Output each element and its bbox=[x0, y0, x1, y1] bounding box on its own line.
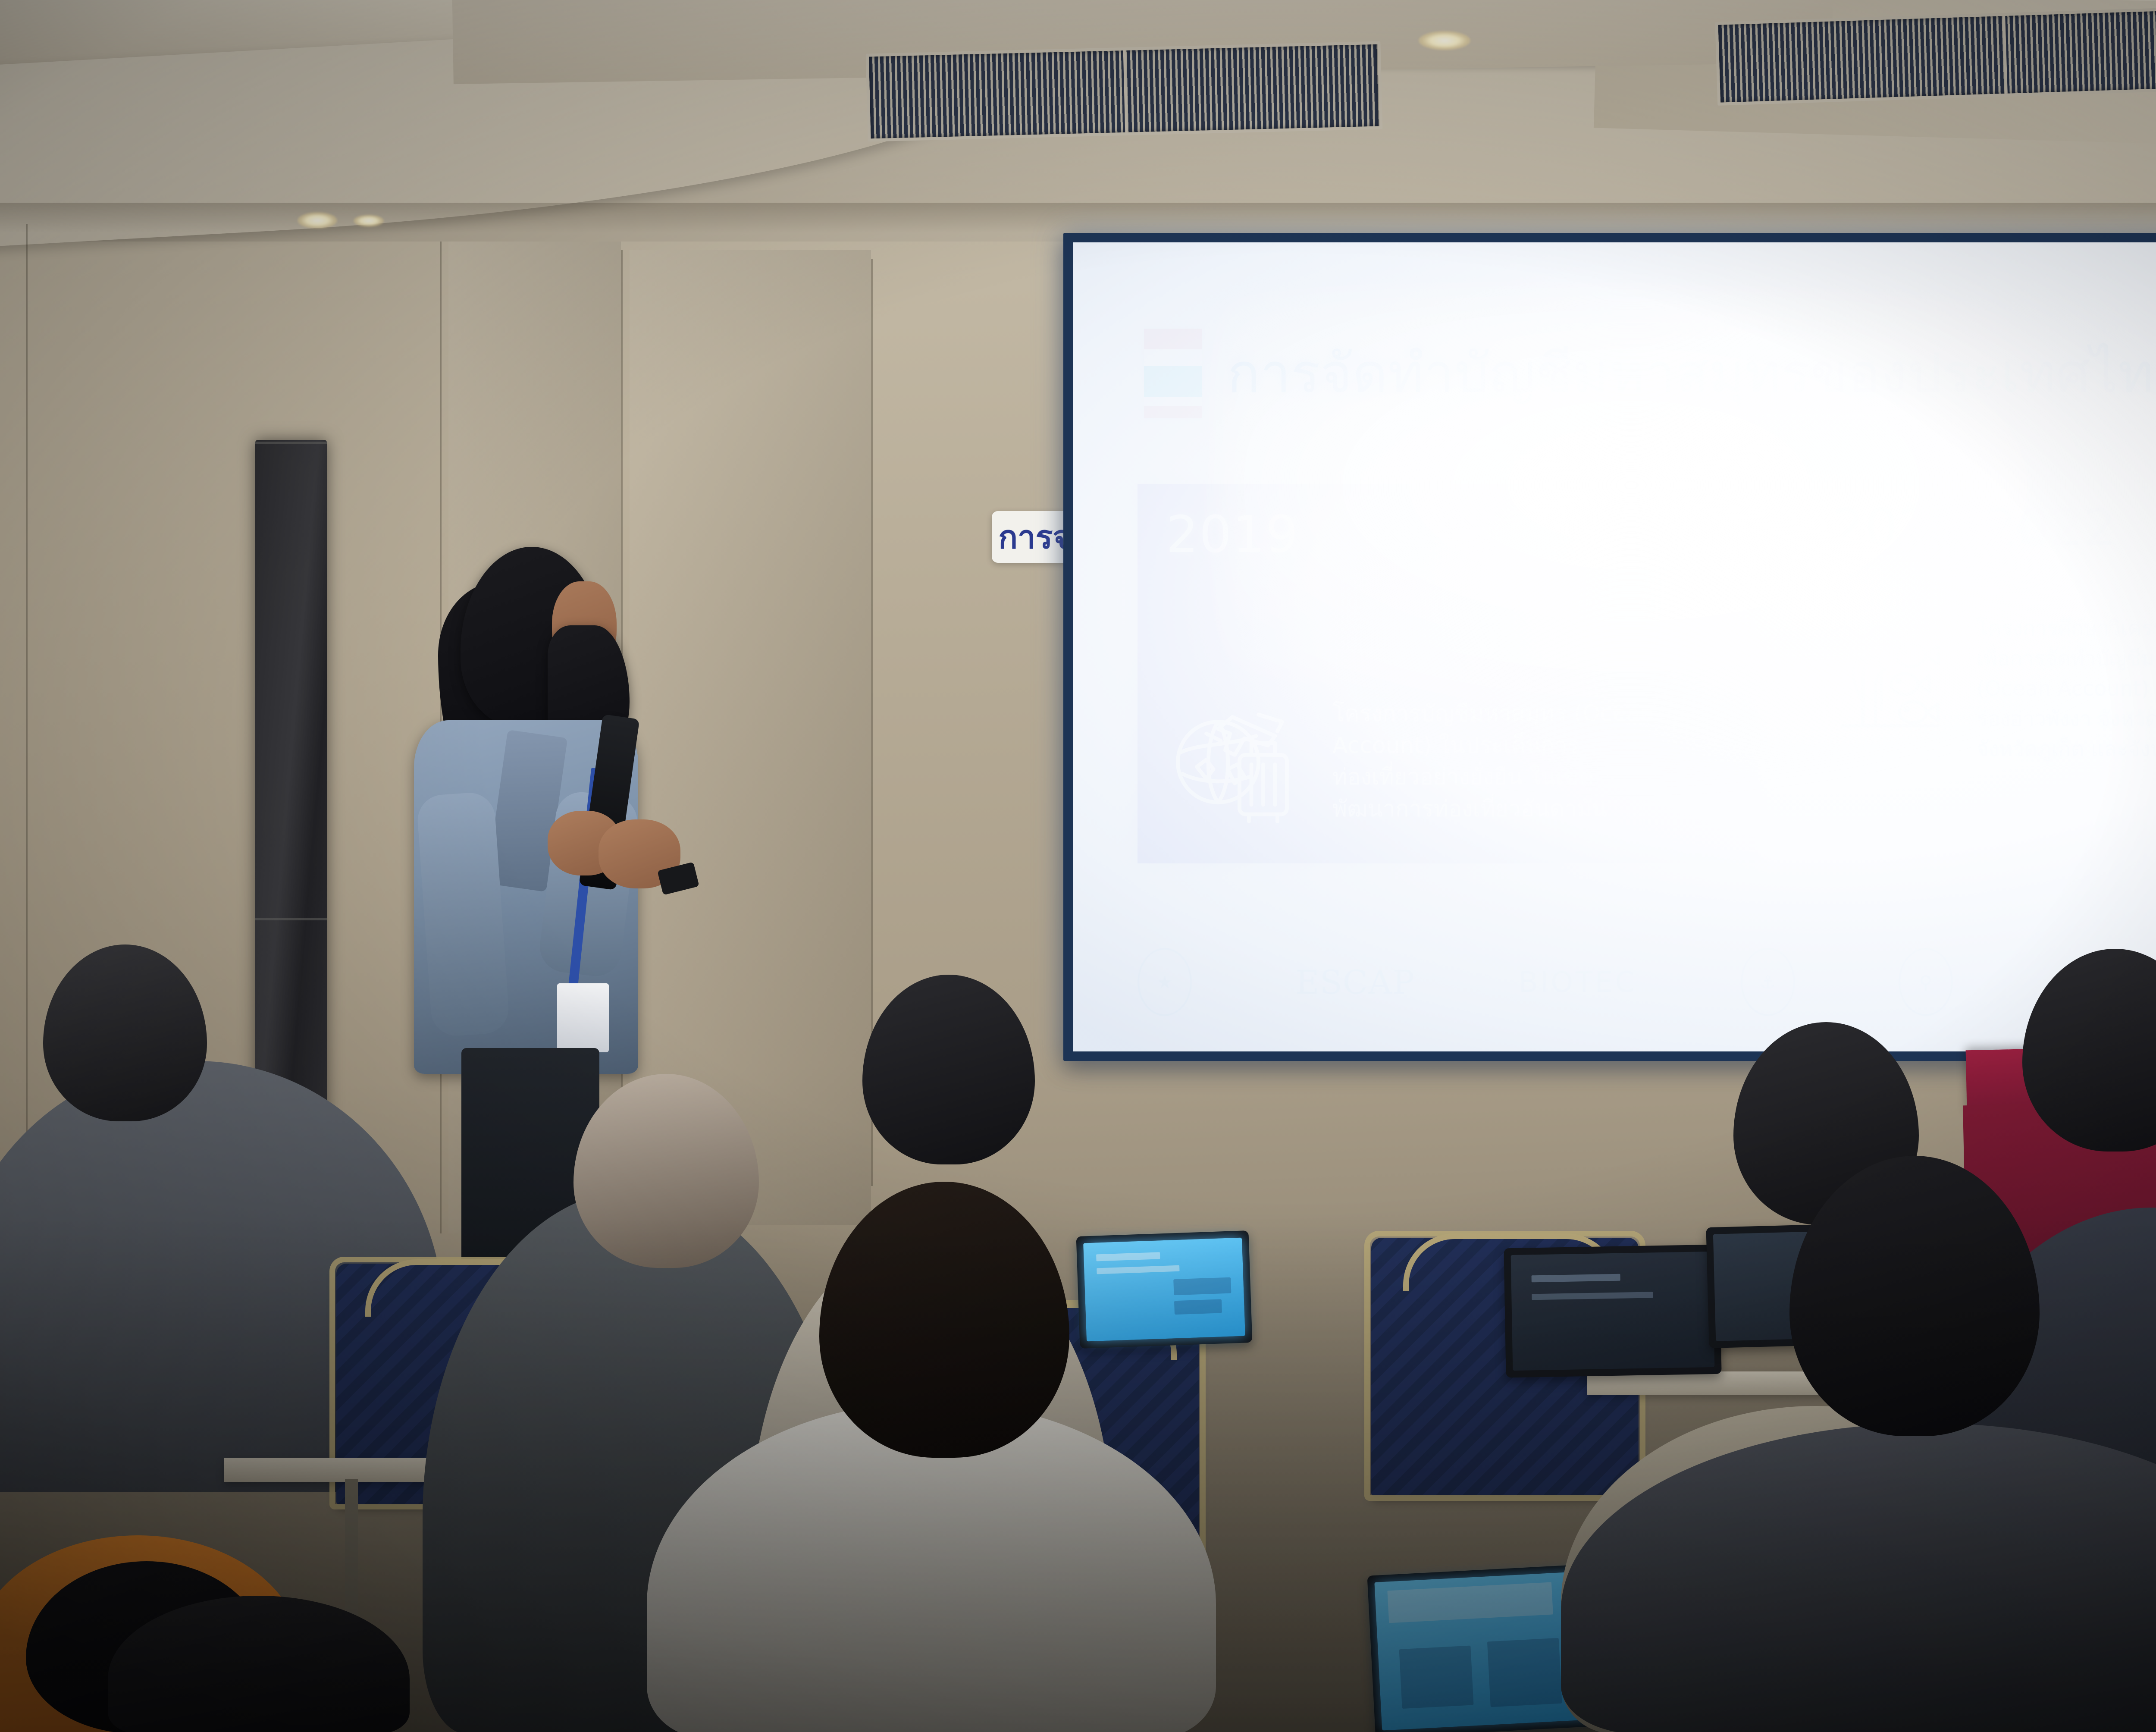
ceiling-downlight-1 bbox=[298, 212, 337, 229]
un-emblem-logo: ★ bbox=[1138, 948, 1192, 1016]
panel-2019-year: 2019 bbox=[1166, 509, 1730, 560]
panel-2019-line-4: พัฒนาการท่องเที่ยวอันดามัน bbox=[1332, 794, 1654, 825]
globe-airplane-suitcase-icon bbox=[1166, 681, 1308, 825]
escap-logo-label: ESCAP bbox=[1295, 963, 1415, 1001]
slide-logo-strip: ★ ESCAP BIOTEC ⚓ ⚲ ♦♦ bbox=[1138, 941, 2156, 1023]
coral-fish-waves-icon bbox=[1827, 613, 1952, 740]
partner-logo-2: ⚲ bbox=[1899, 948, 1953, 1016]
ceiling-downlight-3 bbox=[1419, 31, 1470, 50]
slide-header: การจัดทำบัญชีมหาสมุทรของประเทศไทย bbox=[1144, 329, 2156, 418]
laptop-1-screen bbox=[1083, 1238, 1245, 1342]
panel-2021-line-3: (Ocean Account) ในพื้นที่น้ำ bbox=[1977, 674, 2156, 704]
ceiling-downlight-2 bbox=[354, 215, 384, 227]
partner-seal-1-icon: ⚓ bbox=[1741, 948, 1795, 1016]
un-emblem-icon: ★ bbox=[1138, 948, 1192, 1016]
panel-2021-line-5: จังหวัดภูเก็ต และจังหวัดกระบี่ bbox=[1977, 734, 2156, 764]
conference-room-photo: การจ ะต่อ การจัดทำบัญชีมหาสมุทรของประเทศ… bbox=[0, 0, 2156, 1732]
presentation-slide: การจัดทำบัญชีมหาสมุทรของประเทศไทย 2019 bbox=[1073, 242, 2156, 1051]
panel-2021-text: โครงการศึกษาวิเคราะห์ข้อมูล เพื่อการจัดท… bbox=[1977, 613, 2156, 764]
slide-title: การจัดทำบัญชีมหาสมุทรของประเทศไทย bbox=[1227, 345, 2156, 402]
panel-2021-2022: 2021-2022 bbox=[1827, 484, 2156, 863]
projection-screen: การจัดทำบัญชีมหาสมุทรของประเทศไทย 2019 bbox=[1063, 233, 2156, 1061]
projection-screen-surface: การจัดทำบัญชีมหาสมุทรของประเทศไทย 2019 bbox=[1073, 242, 2156, 1051]
presenter-badge bbox=[557, 983, 609, 1052]
panel-2021-body: โครงการศึกษาวิเคราะห์ข้อมูล เพื่อการจัดท… bbox=[1827, 613, 2156, 764]
panel-2019-text: โครงการบัญชีมหาสมุทร (Ocean Account) ในป… bbox=[1332, 698, 1654, 825]
wall-seam-1 bbox=[26, 224, 28, 1259]
panel-2019-line-1: โครงการบัญชีมหาสมุทร (Ocean bbox=[1332, 698, 1654, 730]
panel-2019-line-3: ท่องเที่ยวอย่างยั่งยืน ในเขต bbox=[1332, 762, 1654, 794]
laptop-3-screen bbox=[1374, 1571, 1592, 1730]
escap-logo: ESCAP bbox=[1295, 963, 1415, 1001]
laptop-1[interactable] bbox=[1076, 1230, 1253, 1349]
laptop-2[interactable] bbox=[1504, 1245, 1721, 1378]
slide-panels: 2019 bbox=[1138, 484, 2156, 863]
panel-2019-line-2: Account) ในประเด็นการ bbox=[1332, 730, 1654, 762]
partner-logo-1: ⚓ bbox=[1741, 948, 1795, 1016]
panel-2019: 2019 bbox=[1138, 484, 1758, 863]
panel-2021-line-1: โครงการศึกษาวิเคราะห์ข้อมูล bbox=[1977, 613, 2156, 643]
thai-flag-icon bbox=[1144, 329, 1202, 418]
panel-2021-line-4: ร่องอ่าวพังงา จังหวัดพังงา bbox=[1977, 704, 2156, 734]
wall-sign-left-text: การจ bbox=[998, 511, 1071, 562]
laptop-2-screen bbox=[1511, 1252, 1715, 1371]
panel-2019-body: โครงการบัญชีมหาสมุทร (Ocean Account) ในป… bbox=[1166, 681, 1733, 825]
biotec-logo: BIOTEC bbox=[1519, 966, 1637, 999]
biotec-logo-label: BIOTEC bbox=[1519, 966, 1637, 999]
loudspeaker-column bbox=[255, 440, 327, 1134]
panel-2021-line-2: เพื่อการจัดทำบัญชีมหาสมุทร bbox=[1977, 643, 2156, 674]
panel-2021-year: 2021-2022 bbox=[1832, 502, 2156, 553]
partner-seal-2-icon: ⚲ bbox=[1899, 948, 1953, 1016]
ceiling-vent-left bbox=[866, 41, 1383, 141]
